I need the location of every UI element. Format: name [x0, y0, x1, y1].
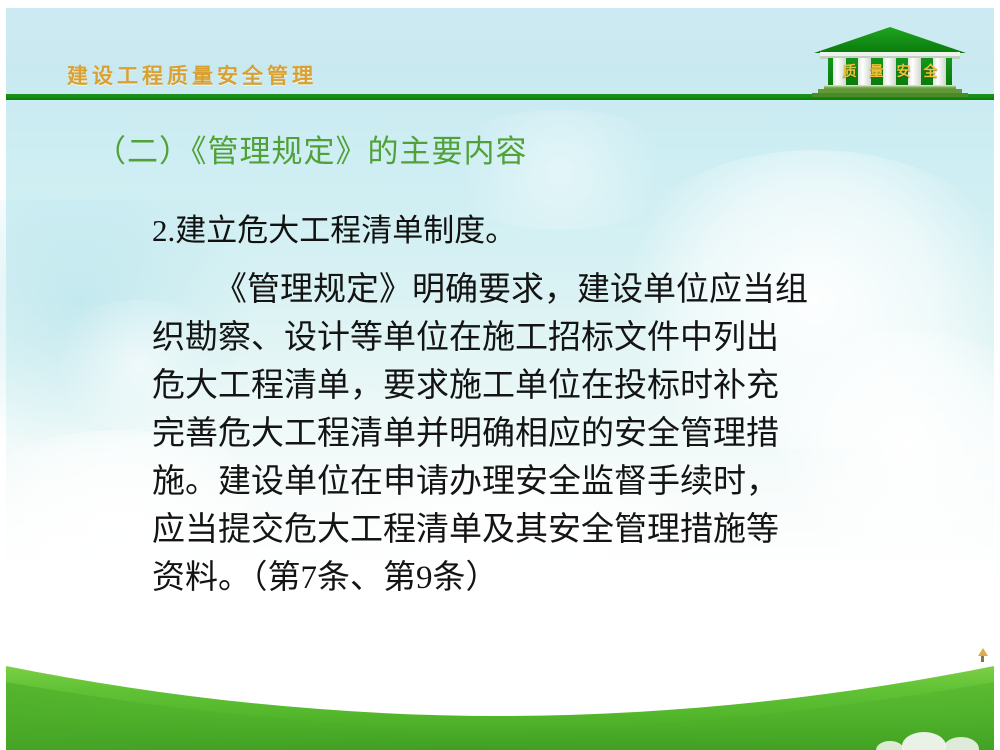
paragraph-line: 危大工程清单，要求施工单位在投标时补充 [152, 362, 942, 410]
page-title: 建设工程质量安全管理 [67, 60, 317, 90]
paragraph-line: 完善危大工程清单并明确相应的安全管理措 [152, 410, 942, 458]
grass-hill-decoration [6, 620, 994, 750]
content-heading: 2.建立危大工程清单制度。 [152, 208, 942, 254]
paragraph-line: 《管理规定》明确要求，建设单位应当组 [152, 266, 942, 314]
paragraph-line: 织勘察、设计等单位在施工招标文件中列出 [152, 314, 942, 362]
content-body: 2.建立危大工程清单制度。 《管理规定》明确要求，建设单位应当组 织勘察、设计等… [152, 208, 942, 602]
paragraph-line: 资料。（第7条、第9条） [152, 554, 942, 602]
paragraph-line: 施。建设单位在申请办理安全监督手续时， [152, 458, 942, 506]
quality-safety-temple-logo: 质量安全 [806, 25, 974, 99]
slide-canvas: 建设工程质量安全管理 [0, 0, 1000, 750]
content-paragraph: 《管理规定》明确要求，建设单位应当组 织勘察、设计等单位在施工招标文件中列出 危… [152, 266, 942, 602]
section-subtitle: （二）《管理规定》的主要内容 [95, 126, 528, 171]
paragraph-line: 应当提交危大工程清单及其安全管理措施等 [152, 506, 942, 554]
